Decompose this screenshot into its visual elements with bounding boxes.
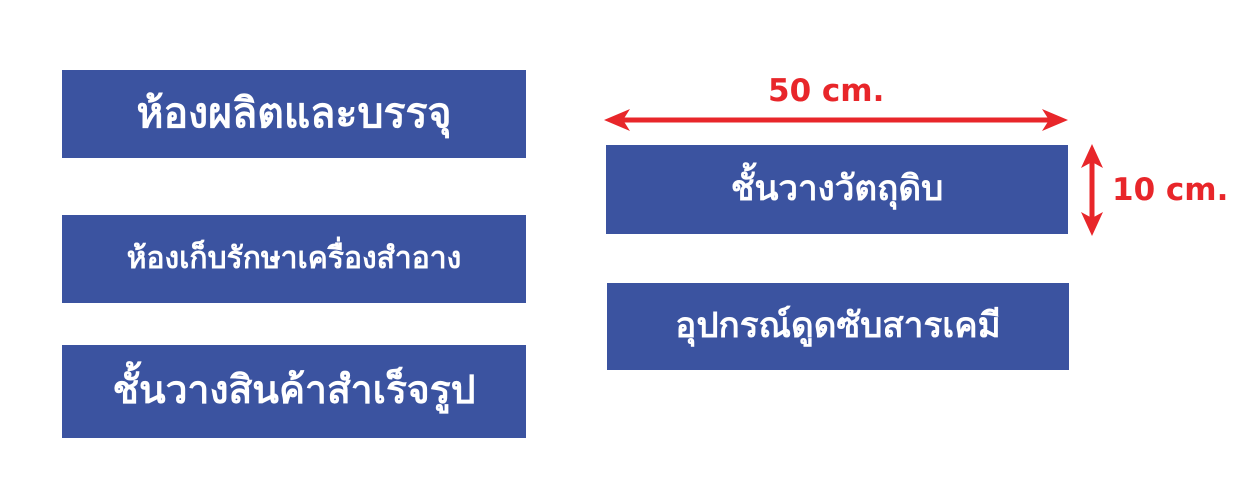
shelf-box-raw-material-shelf[interactable]: ชั้นวางวัตถุดิบ [606, 145, 1068, 234]
height-dimension-label: 10 cm. [1112, 172, 1228, 208]
shelf-box-cosmetic-storage[interactable]: ห้องเก็บรักษาเครื่องสำอาง [62, 215, 526, 303]
shelf-box-label: ชั้นวางวัตถุดิบ [731, 171, 944, 208]
diagram-canvas: ห้องผลิตและบรรจุ ห้องเก็บรักษาเครื่องสำอ… [0, 0, 1259, 491]
shelf-box-label: อุปกรณ์ดูดซับสารเคมี [675, 308, 1000, 345]
shelf-box-label: ห้องผลิตและบรรจุ [136, 92, 451, 135]
width-dimension-arrow-icon [600, 106, 1072, 134]
shelf-box-label: ชั้นวางสินค้าสำเร็จรูป [113, 371, 476, 412]
shelf-box-label: ห้องเก็บรักษาเครื่องสำอาง [127, 243, 462, 275]
shelf-box-finished-goods[interactable]: ชั้นวางสินค้าสำเร็จรูป [62, 345, 526, 438]
height-dimension-arrow-icon [1078, 142, 1106, 238]
shelf-box-production-room[interactable]: ห้องผลิตและบรรจุ [62, 70, 526, 158]
shelf-box-chemical-absorbent[interactable]: อุปกรณ์ดูดซับสารเคมี [607, 283, 1069, 370]
width-dimension-label: 50 cm. [768, 73, 884, 109]
